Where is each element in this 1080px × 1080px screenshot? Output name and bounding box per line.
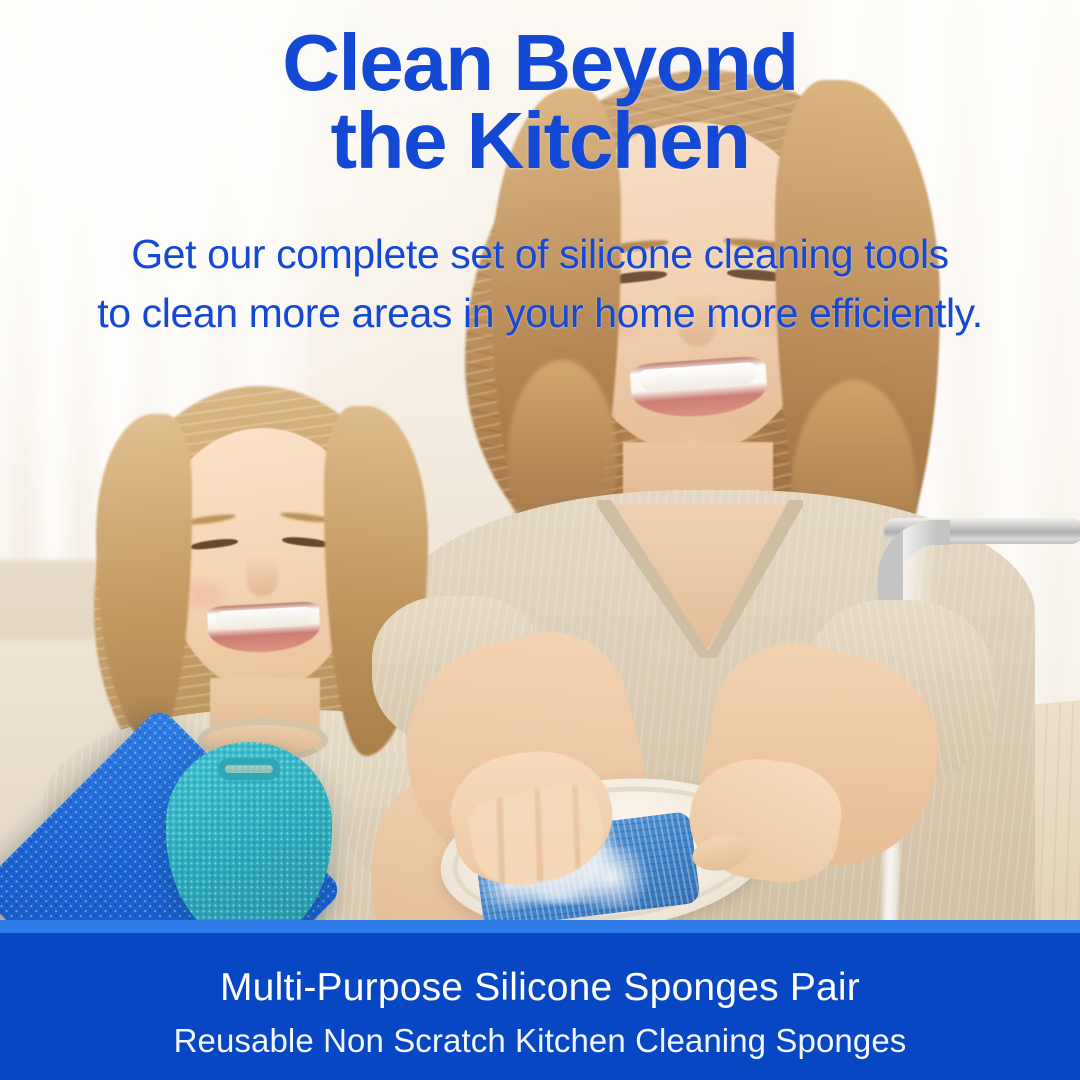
teal-oval-sponge-hanging-slot	[218, 758, 280, 780]
subheadline-line-2: to clean more areas in your home more ef…	[0, 284, 1080, 343]
headline-line-2: the Kitchen	[0, 102, 1080, 180]
headline: Clean Beyond the Kitchen	[0, 24, 1080, 181]
product-marketing-image: Clean Beyond the Kitchen Get our complet…	[0, 0, 1080, 1080]
subheadline: Get our complete set of silicone cleanin…	[0, 225, 1080, 344]
teal-oval-sponge	[166, 742, 332, 942]
banner-product-title: Multi-Purpose Silicone Sponges Pair	[0, 966, 1080, 1010]
headline-line-1: Clean Beyond	[282, 18, 797, 107]
banner-product-subtitle: Reusable Non Scratch Kitchen Cleaning Sp…	[0, 1022, 1080, 1060]
banner-top-stripe	[0, 920, 1080, 933]
subheadline-line-1: Get our complete set of silicone cleanin…	[131, 231, 949, 277]
girl-nose	[246, 556, 278, 596]
